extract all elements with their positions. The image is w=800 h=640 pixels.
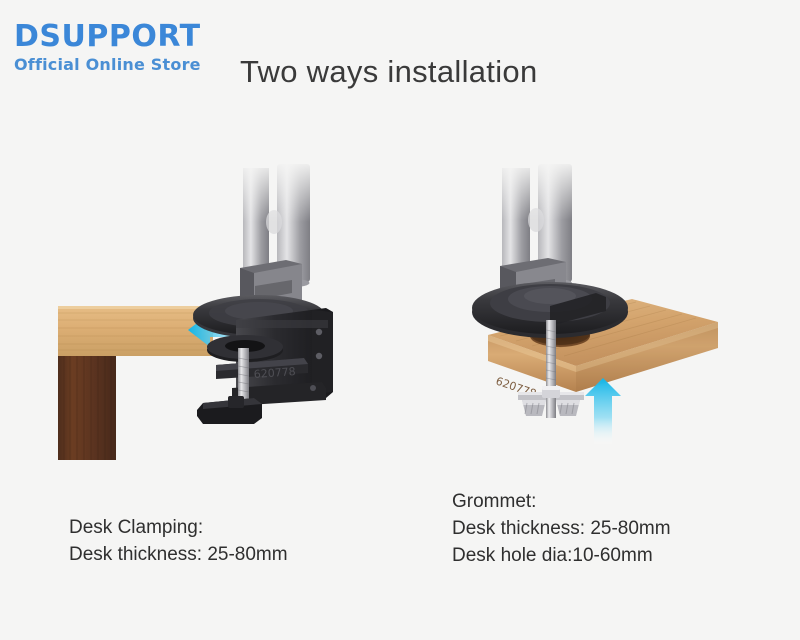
- grommet-caption: Grommet: Desk thickness: 25-80mm Desk ho…: [452, 488, 671, 569]
- desk-clamping-illustration: 620778: [40, 160, 370, 460]
- monitor-mount-clamp: 620778: [193, 160, 333, 424]
- brand-logo: DSUPPORT Official Online Store: [14, 22, 254, 73]
- brand-subtitle: Official Online Store: [14, 57, 254, 73]
- page-title: Two ways installation: [240, 54, 538, 90]
- desk-clamping-caption: Desk Clamping: Desk thickness: 25-80mm: [69, 514, 288, 568]
- infographic-page: DSUPPORT Official Online Store Two ways …: [0, 0, 800, 640]
- desk-clamping-thickness: Desk thickness: 25-80mm: [69, 541, 288, 568]
- grommet-thickness: Desk thickness: 25-80mm: [452, 515, 671, 542]
- desk-clamping-heading: Desk Clamping:: [69, 514, 288, 541]
- grommet-hole-dia: Desk hole dia:10-60mm: [452, 542, 671, 569]
- grommet-illustration: 620778: [400, 160, 740, 460]
- direction-arrow-up: [585, 378, 621, 444]
- brand-name: DSUPPORT: [14, 22, 254, 52]
- grommet-heading: Grommet:: [452, 488, 671, 515]
